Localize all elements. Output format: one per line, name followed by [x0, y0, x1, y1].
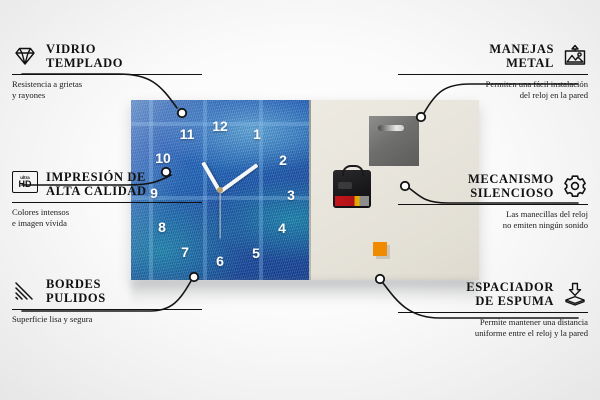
- feature-desc-line1: Colores intensos: [12, 207, 69, 217]
- feature-header: MECANISMO SILENCIOSO: [398, 172, 588, 200]
- feature-desc-line1: Permite mantener una distancia: [480, 317, 588, 327]
- feature-desc-line1: Superficie lisa y segura: [12, 314, 92, 324]
- feature-desc-line1: Las manecillas del reloj: [506, 209, 588, 219]
- feature-manejas-metal[interactable]: MANEJAS METAL Permiten una fácil instala…: [398, 42, 588, 101]
- feature-description: Superficie lisa y segura: [12, 314, 202, 325]
- feature-title-line1: VIDRIO: [46, 42, 96, 56]
- feature-description: Colores intensos e imagen vívida: [12, 207, 202, 229]
- clock-center-pin: [217, 187, 223, 193]
- clock-numeral-12: 12: [212, 119, 228, 133]
- feature-rule: [12, 309, 202, 310]
- feature-desc-line2: no emiten ningún sonido: [503, 220, 588, 230]
- feature-title-line2: ALTA CALIDAD: [46, 184, 147, 198]
- clock-numeral-6: 6: [216, 254, 224, 268]
- quartz-movement: [333, 170, 371, 208]
- feature-espaciador-espuma[interactable]: ESPACIADOR DE ESPUMA Permite mantener un…: [398, 280, 588, 339]
- feature-title-line2: PULIDOS: [46, 291, 106, 305]
- feature-rule: [398, 312, 588, 313]
- feature-rule: [398, 74, 588, 75]
- feature-description: Permite mantener una distancia uniforme …: [398, 317, 588, 339]
- foam-spacer-icon: [562, 281, 588, 307]
- feature-title-line1: MANEJAS: [489, 42, 554, 56]
- ultra-hd-icon: ultra HD: [12, 171, 38, 197]
- metal-hanger-plate: [369, 116, 419, 166]
- feature-desc-line2: del reloj en la pared: [520, 90, 588, 100]
- clock-numeral-3: 3: [287, 188, 295, 202]
- feature-header: ESPACIADOR DE ESPUMA: [398, 280, 588, 308]
- feature-header: BORDES PULIDOS: [12, 277, 202, 305]
- feature-title-line2: TEMPLADO: [46, 56, 123, 70]
- feature-bordes-pulidos[interactable]: BORDES PULIDOS Superficie lisa y segura: [12, 277, 202, 325]
- feature-vidrio-templado[interactable]: VIDRIO TEMPLADO Resistencia a grietas y …: [12, 42, 202, 101]
- feature-header: VIDRIO TEMPLADO: [12, 42, 202, 70]
- feature-desc-line2: e imagen vívida: [12, 218, 67, 228]
- foam-spacer: [373, 242, 387, 256]
- feature-title: MANEJAS METAL: [489, 42, 554, 70]
- feature-header: MANEJAS METAL: [398, 42, 588, 70]
- movement-dial: [338, 182, 352, 189]
- movement-sticker: [335, 196, 369, 206]
- feature-desc-line1: Permiten una fácil instalación: [486, 79, 588, 89]
- feature-title: BORDES PULIDOS: [46, 277, 106, 305]
- feature-rule: [12, 202, 202, 203]
- ultra-hd-icon-large-text: HD: [19, 180, 32, 189]
- feature-title: IMPRESIÓN DE ALTA CALIDAD: [46, 170, 147, 198]
- feature-rule: [12, 74, 202, 75]
- photo-seam: [309, 100, 311, 280]
- clock-numeral-10: 10: [155, 151, 171, 165]
- clock-numeral-4: 4: [278, 221, 286, 235]
- feature-title-line2: SILENCIOSO: [470, 186, 554, 200]
- feature-desc-line1: Resistencia a grietas: [12, 79, 82, 89]
- feature-title-line1: ESPACIADOR: [466, 280, 554, 294]
- feature-rule: [398, 204, 588, 205]
- polished-edges-icon: [12, 278, 38, 304]
- diamond-icon: [12, 43, 38, 69]
- feature-title: ESPACIADOR DE ESPUMA: [466, 280, 554, 308]
- hanging-picture-icon: [562, 43, 588, 69]
- feature-title: MECANISMO SILENCIOSO: [468, 172, 554, 200]
- feature-title-line1: IMPRESIÓN DE: [46, 170, 146, 184]
- clock-numeral-11: 11: [180, 127, 195, 141]
- hanger-slot: [378, 125, 404, 131]
- feature-desc-line2: uniforme entre el reloj y la pared: [475, 328, 588, 338]
- clock-numeral-5: 5: [252, 246, 260, 260]
- feature-title: VIDRIO TEMPLADO: [46, 42, 123, 70]
- feature-title-line2: METAL: [506, 56, 554, 70]
- feature-description: Las manecillas del reloj no emiten ningú…: [398, 209, 588, 231]
- clock-numeral-7: 7: [181, 245, 189, 259]
- infographic-canvas: 12 1 2 3 4 5 6 7 8 9 10 11: [0, 0, 600, 400]
- feature-title-line1: MECANISMO: [468, 172, 554, 186]
- clock-numeral-1: 1: [253, 127, 261, 141]
- feature-description: Resistencia a grietas y rayones: [12, 79, 202, 101]
- gear-icon: [562, 173, 588, 199]
- clock-second-hand: [219, 191, 220, 239]
- feature-impresion-alta-calidad[interactable]: ultra HD IMPRESIÓN DE ALTA CALIDAD Color…: [12, 170, 202, 229]
- movement-hanger-loop: [342, 165, 364, 176]
- feature-desc-line2: y rayones: [12, 90, 45, 100]
- feature-header: ultra HD IMPRESIÓN DE ALTA CALIDAD: [12, 170, 202, 198]
- clock-numeral-2: 2: [279, 153, 287, 167]
- feature-title-line2: DE ESPUMA: [475, 294, 554, 308]
- feature-description: Permiten una fácil instalación del reloj…: [398, 79, 588, 101]
- feature-title-line1: BORDES: [46, 277, 101, 291]
- feature-mecanismo-silencioso[interactable]: MECANISMO SILENCIOSO Las manecillas del …: [398, 172, 588, 231]
